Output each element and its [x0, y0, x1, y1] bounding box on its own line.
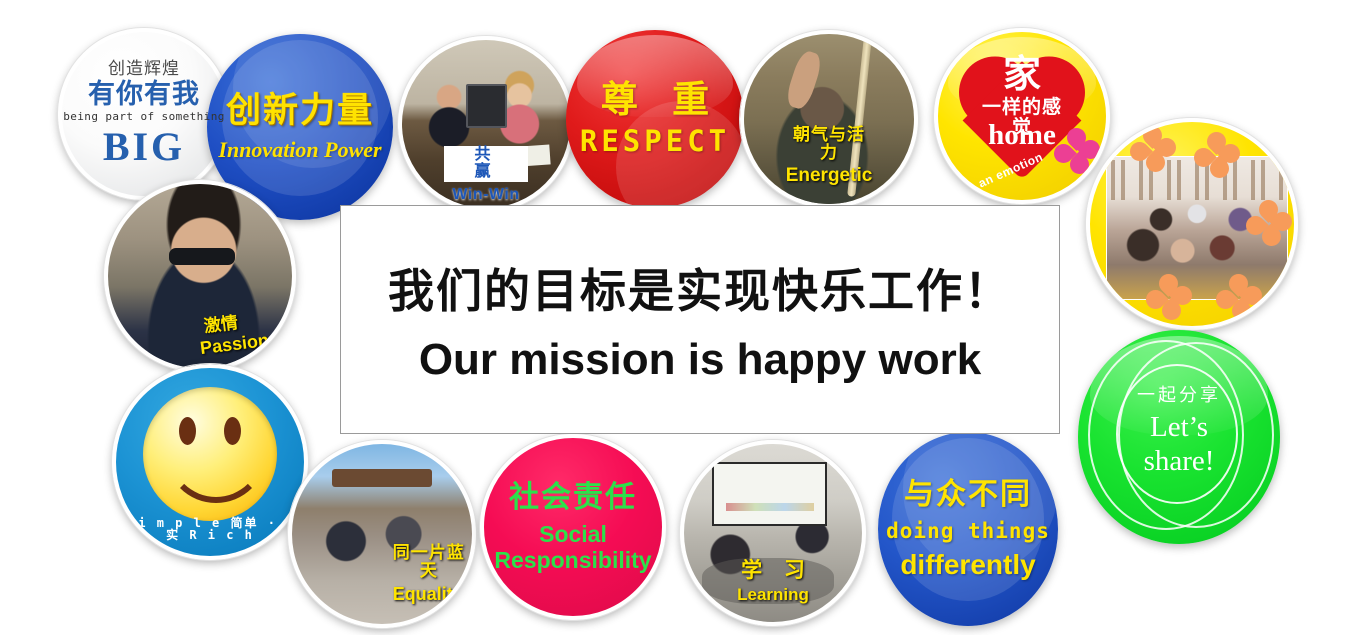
- bubble-team-photo[interactable]: [1086, 118, 1298, 330]
- smile-arc-text: S i m p l e 简单 · 充实 R i c h: [116, 517, 304, 542]
- bubble-lets-share[interactable]: 一起分享 Let’s share!: [1078, 330, 1280, 544]
- winwin-cn: 共 赢: [474, 146, 497, 180]
- social-cn: 社会责任: [509, 482, 637, 514]
- different-en-line1: doing things: [886, 520, 1050, 542]
- flower-icon: [1246, 200, 1292, 246]
- flower-icon: [1130, 126, 1176, 172]
- smiley-face-icon: [143, 387, 277, 521]
- learning-cn: 学 习: [733, 560, 813, 582]
- big-en-large: BIG: [103, 126, 185, 168]
- flower-icon: [1216, 274, 1262, 320]
- home-en: home: [988, 120, 1056, 150]
- bubble-being-part-of-something-big[interactable]: 创造辉煌 有你有我 being part of something BIG: [58, 28, 230, 200]
- innovation-cn: 创新力量: [226, 93, 374, 130]
- bubble-win-win[interactable]: 共 赢 Win-Win: [398, 36, 574, 212]
- learning-en: Learning: [737, 586, 809, 604]
- equality-cn: 同一片蓝天: [386, 544, 472, 580]
- equality-en: Equality: [393, 585, 463, 604]
- innovation-en: Innovation Power: [218, 138, 381, 161]
- social-en-line1: Social: [539, 522, 607, 546]
- projector-screen-shape: [712, 462, 826, 527]
- bubble-learning[interactable]: 学 习 Learning: [680, 440, 866, 626]
- different-cn: 与众不同: [904, 479, 1032, 511]
- big-cn-small: 创造辉煌: [108, 60, 180, 78]
- respect-en: RESPECT: [580, 126, 730, 156]
- share-en-line1: Let’s: [1150, 412, 1208, 442]
- bubble-respect[interactable]: 尊 重 RESPECT: [566, 30, 744, 208]
- share-cn: 一起分享: [1137, 386, 1221, 405]
- flower-icon: [1194, 132, 1240, 178]
- bubble-doing-things-differently[interactable]: 与众不同 doing things differently: [878, 432, 1058, 626]
- mission-line-cn: 我们的目标是实现快乐工作！: [388, 255, 1012, 321]
- winwin-en: Win-Win: [452, 187, 519, 204]
- mission-line-en: Our mission is happy work: [419, 335, 981, 385]
- different-en-line2: differently: [900, 550, 1035, 579]
- winwin-plate: 共 赢: [444, 146, 528, 182]
- home-cn-big: 家: [1003, 56, 1041, 96]
- handshake-photo: [402, 40, 570, 208]
- monitor-shape: [466, 84, 507, 128]
- big-en-small: being part of something: [63, 111, 225, 123]
- values-collage: 创造辉煌 有你有我 being part of something BIG 创新…: [0, 0, 1366, 635]
- flower-icon: [1054, 128, 1100, 174]
- arm-shape: [783, 49, 823, 111]
- sunglasses-shape: [169, 248, 235, 265]
- bubble-simple-rich[interactable]: S i m p l e 简单 · 充实 R i c h: [112, 364, 308, 560]
- share-en-line2: share!: [1144, 446, 1215, 476]
- energetic-en: Energetic: [786, 166, 873, 186]
- bubble-home-is-an-emotion[interactable]: 家 一样的感觉 home is an emotion: [934, 28, 1110, 204]
- respect-cn: 尊 重: [589, 81, 721, 120]
- bubble-social-responsibility[interactable]: 社会责任 Social Responsibility: [480, 434, 666, 620]
- bubble-passion[interactable]: 激情 Passion: [104, 180, 296, 372]
- bubble-equality[interactable]: 同一片蓝天 Equality: [288, 440, 476, 628]
- bubble-energetic[interactable]: 朝气与活力 Energetic: [740, 30, 918, 208]
- energetic-cn: 朝气与活力: [787, 126, 872, 162]
- social-en-line2: Responsibility: [494, 548, 651, 572]
- mission-banner: 我们的目标是实现快乐工作！ Our mission is happy work: [340, 205, 1060, 434]
- flower-icon: [1146, 274, 1192, 320]
- temple-roof-shape: [332, 469, 433, 487]
- big-cn-large: 有你有我: [88, 80, 200, 108]
